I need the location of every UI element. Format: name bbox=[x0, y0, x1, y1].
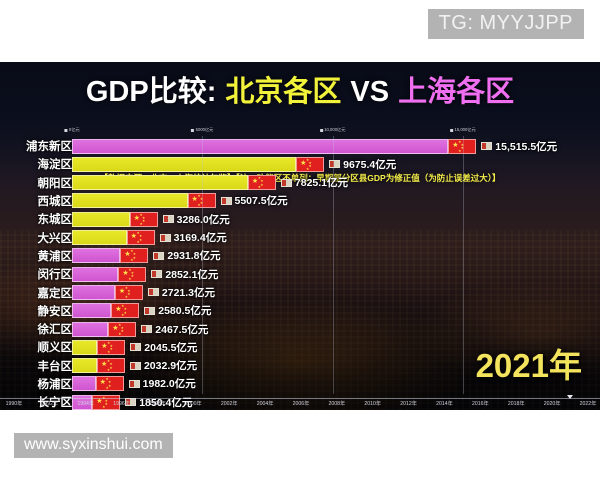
tick-marker-icon bbox=[450, 129, 453, 132]
bar-category-label: 丰台区 bbox=[0, 357, 72, 375]
bar-track: ★★★★★2032.9亿元 bbox=[72, 358, 528, 373]
title-part-shanghai: 上海各区 bbox=[398, 76, 514, 108]
flag-star-icon: ★ bbox=[130, 259, 133, 262]
timeline-year-tick[interactable]: 2002年 bbox=[221, 400, 238, 407]
bar-track: ★★★★★7825.1亿元 bbox=[72, 175, 528, 190]
china-flag-icon: ★★★★★ bbox=[96, 376, 124, 391]
china-flag-icon: ★★★★★ bbox=[127, 230, 155, 245]
chart-gridline bbox=[202, 136, 203, 394]
bar-track: ★★★★★3286.0亿元 bbox=[72, 212, 528, 227]
value-flag-icon bbox=[130, 343, 141, 351]
chart-bar-row: 朝阳区★★★★★7825.1亿元 bbox=[0, 174, 600, 192]
china-flag-icon: ★★★★★ bbox=[120, 248, 148, 263]
bar-value-text: 1982.0亿元 bbox=[143, 376, 196, 391]
chart-bar-row: 徐汇区★★★★★2467.5亿元 bbox=[0, 320, 600, 338]
chart-bar-row: 西城区★★★★★5507.5亿元 bbox=[0, 192, 600, 210]
bar-value-label: 15,515.5亿元 bbox=[481, 139, 557, 154]
value-flag-icon bbox=[160, 234, 171, 242]
bar-value-label: 2852.1亿元 bbox=[151, 267, 218, 282]
flag-star-icon: ★ bbox=[106, 387, 109, 390]
title-part-vs: VS bbox=[350, 76, 389, 108]
bar-segment[interactable] bbox=[72, 285, 115, 300]
bar-category-label: 浦东新区 bbox=[0, 137, 72, 155]
chart-bar-row: 浦东新区★★★★★15,515.5亿元 bbox=[0, 137, 600, 155]
bar-segment[interactable] bbox=[72, 193, 188, 208]
bar-value-text: 2032.9亿元 bbox=[144, 358, 197, 373]
flag-star-icon: ★ bbox=[118, 333, 121, 336]
bar-segment[interactable] bbox=[72, 248, 120, 263]
bar-segment[interactable] bbox=[72, 376, 96, 391]
flag-star-icon: ★ bbox=[458, 150, 461, 153]
value-flag-icon bbox=[163, 215, 174, 223]
china-flag-icon: ★★★★★ bbox=[118, 267, 146, 282]
china-flag-icon: ★★★★★ bbox=[111, 303, 139, 318]
value-flag-icon bbox=[148, 288, 159, 296]
tick-label-text: 10,000亿元 bbox=[324, 127, 345, 133]
bar-value-label: 7825.1亿元 bbox=[281, 175, 348, 190]
tick-marker-icon bbox=[191, 129, 194, 132]
timeline-year-tick[interactable]: 2006年 bbox=[293, 400, 310, 407]
china-flag-icon: ★★★★★ bbox=[130, 212, 158, 227]
bar-value-label: 2045.5亿元 bbox=[130, 340, 197, 355]
bar-value-label: 2467.5亿元 bbox=[141, 322, 208, 337]
value-flag-icon bbox=[130, 362, 141, 370]
current-year-display: 2021年 bbox=[476, 349, 582, 382]
flag-star-icon: ★ bbox=[125, 296, 128, 299]
chart-bar-row: 大兴区★★★★★3169.4亿元 bbox=[0, 228, 600, 246]
chart-gridline bbox=[463, 136, 464, 394]
bar-track: ★★★★★2580.5亿元 bbox=[72, 303, 528, 318]
timeline-playhead-marker[interactable] bbox=[567, 395, 573, 399]
title-part-beijing: 北京各区 bbox=[225, 76, 341, 108]
bar-category-label: 西城区 bbox=[0, 192, 72, 210]
bar-value-text: 2467.5亿元 bbox=[155, 322, 208, 337]
bar-segment[interactable] bbox=[72, 212, 130, 227]
bar-track: ★★★★★15,515.5亿元 bbox=[72, 139, 528, 154]
page-title: GDP比较:北京各区VS上海各区 bbox=[0, 78, 600, 107]
timeline-year-tick[interactable]: 2022年 bbox=[580, 400, 597, 407]
timeline-year-tick[interactable]: 1992年 bbox=[42, 400, 59, 407]
bar-value-label: 1982.0亿元 bbox=[129, 376, 196, 391]
bar-track: ★★★★★2045.5亿元 bbox=[72, 340, 528, 355]
bar-value-label: 3286.0亿元 bbox=[163, 212, 230, 227]
bar-value-text: 2045.5亿元 bbox=[144, 340, 197, 355]
value-flag-icon bbox=[329, 160, 340, 168]
timeline-year-tick[interactable]: 1996年 bbox=[113, 400, 130, 407]
x-axis-tick-label: 0亿元 bbox=[64, 127, 79, 133]
bar-category-label: 东城区 bbox=[0, 210, 72, 228]
x-axis-tick-label: 5000亿元 bbox=[191, 127, 213, 133]
bar-category-label: 徐汇区 bbox=[0, 320, 72, 338]
bar-value-label: 2931.8亿元 bbox=[153, 248, 220, 263]
timeline-year-tick[interactable]: 2014年 bbox=[436, 400, 453, 407]
bar-value-text: 15,515.5亿元 bbox=[495, 139, 557, 154]
value-flag-icon bbox=[221, 197, 232, 205]
telegram-watermark: TG: MYYJJPP bbox=[428, 9, 584, 39]
flag-star-icon: ★ bbox=[306, 168, 309, 171]
china-flag-icon: ★★★★★ bbox=[97, 340, 125, 355]
bar-segment[interactable] bbox=[72, 267, 118, 282]
bar-category-label: 杨浦区 bbox=[0, 375, 72, 393]
value-flag-icon bbox=[481, 142, 492, 150]
bar-value-text: 2721.3亿元 bbox=[162, 285, 215, 300]
bar-segment[interactable] bbox=[72, 230, 127, 245]
china-flag-icon: ★★★★★ bbox=[296, 157, 324, 172]
bar-value-text: 9675.4亿元 bbox=[343, 157, 396, 172]
bar-value-text: 5507.5亿元 bbox=[235, 193, 288, 208]
bar-category-label: 朝阳区 bbox=[0, 174, 72, 192]
chart-bar-row: 海淀区★★★★★9675.4亿元 bbox=[0, 155, 600, 173]
bar-value-label: 2721.3亿元 bbox=[148, 285, 215, 300]
tick-marker-icon bbox=[320, 129, 323, 132]
timeline-year-tick[interactable]: 2010年 bbox=[364, 400, 381, 407]
chart-bar-row: 黄浦区★★★★★2931.8亿元 bbox=[0, 247, 600, 265]
x-axis-tick-label: 15,000亿元 bbox=[450, 127, 476, 133]
tick-label-text: 5000亿元 bbox=[196, 127, 214, 133]
timeline-year-tick[interactable]: 2012年 bbox=[400, 400, 417, 407]
timeline-year-tick[interactable]: 2008年 bbox=[329, 400, 346, 407]
china-flag-icon: ★★★★★ bbox=[115, 285, 143, 300]
flag-star-icon: ★ bbox=[107, 369, 110, 372]
timeline-year-tick[interactable]: 2004年 bbox=[257, 400, 274, 407]
chart-gridline bbox=[333, 136, 334, 394]
timeline-year-tick[interactable]: 2000年 bbox=[185, 400, 202, 407]
flag-star-icon: ★ bbox=[121, 314, 124, 317]
bar-segment[interactable] bbox=[72, 175, 248, 190]
bar-category-label: 顺义区 bbox=[0, 338, 72, 356]
value-flag-icon bbox=[281, 179, 292, 187]
bar-value-text: 2580.5亿元 bbox=[158, 303, 211, 318]
bar-track: ★★★★★2467.5亿元 bbox=[72, 322, 528, 337]
bar-value-text: 3169.4亿元 bbox=[174, 230, 227, 245]
bar-value-label: 2580.5亿元 bbox=[144, 303, 211, 318]
bar-segment[interactable] bbox=[72, 340, 97, 355]
bar-track: ★★★★★5507.5亿元 bbox=[72, 193, 528, 208]
chart-bar-row: 东城区★★★★★3286.0亿元 bbox=[0, 210, 600, 228]
flag-star-icon: ★ bbox=[107, 351, 110, 354]
bar-value-text: 2852.1亿元 bbox=[165, 267, 218, 282]
bar-segment[interactable] bbox=[72, 157, 296, 172]
bar-value-label: 5507.5亿元 bbox=[221, 193, 288, 208]
bar-track: ★★★★★1982.0亿元 bbox=[72, 376, 528, 391]
timeline-year-tick[interactable]: 1994年 bbox=[77, 400, 94, 407]
timeline-year-tick[interactable]: 2020年 bbox=[544, 400, 561, 407]
flag-star-icon: ★ bbox=[198, 204, 201, 207]
timeline-year-tick[interactable]: 2018年 bbox=[508, 400, 525, 407]
bar-segment[interactable] bbox=[72, 358, 97, 373]
flag-star-icon: ★ bbox=[137, 241, 140, 244]
bar-track: ★★★★★2931.8亿元 bbox=[72, 248, 528, 263]
title-part-gdp: GDP比较: bbox=[86, 76, 217, 108]
china-flag-icon: ★★★★★ bbox=[108, 322, 136, 337]
chart-bar-row: 静安区★★★★★2580.5亿元 bbox=[0, 302, 600, 320]
site-watermark: www.syxinshui.com bbox=[14, 433, 173, 458]
flag-star-icon: ★ bbox=[140, 223, 143, 226]
chart-bar-row: 嘉定区★★★★★2721.3亿元 bbox=[0, 283, 600, 301]
bar-category-label: 闵行区 bbox=[0, 265, 72, 283]
bar-category-label: 黄浦区 bbox=[0, 247, 72, 265]
tick-marker-icon bbox=[64, 129, 67, 132]
chart-timeline-axis[interactable]: 1990年1992年1994年1996年1998年2000年2002年2004年… bbox=[0, 398, 600, 410]
bar-value-label: 3169.4亿元 bbox=[160, 230, 227, 245]
timeline-year-tick[interactable]: 2016年 bbox=[472, 400, 489, 407]
bar-value-label: 9675.4亿元 bbox=[329, 157, 396, 172]
video-frame: GDP比较:北京各区VS上海各区 【数据来源：北京、上海统计年鉴】【注：功能区不… bbox=[0, 62, 600, 410]
timeline-year-tick[interactable]: 1998年 bbox=[149, 400, 166, 407]
bar-value-text: 7825.1亿元 bbox=[295, 175, 348, 190]
tick-label-text: 0亿元 bbox=[69, 127, 80, 133]
tick-label-text: 15,000亿元 bbox=[455, 127, 476, 133]
flag-star-icon: ★ bbox=[258, 186, 261, 189]
value-flag-icon bbox=[151, 270, 162, 278]
bar-segment[interactable] bbox=[72, 322, 108, 337]
bar-segment[interactable] bbox=[72, 139, 448, 154]
bar-category-label: 静安区 bbox=[0, 302, 72, 320]
x-axis-tick-label: 10,000亿元 bbox=[320, 127, 346, 133]
bar-track: ★★★★★3169.4亿元 bbox=[72, 230, 528, 245]
bar-segment[interactable] bbox=[72, 303, 111, 318]
china-flag-icon: ★★★★★ bbox=[97, 358, 125, 373]
bar-track: ★★★★★2852.1亿元 bbox=[72, 267, 528, 282]
bar-value-label: 2032.9亿元 bbox=[130, 358, 197, 373]
value-flag-icon bbox=[144, 307, 155, 315]
chart-top-axis: 0亿元5000亿元10,000亿元15,000亿元 bbox=[0, 126, 600, 137]
timeline-year-tick[interactable]: 1990年 bbox=[6, 400, 23, 407]
bar-track: ★★★★★9675.4亿元 bbox=[72, 157, 528, 172]
bar-category-label: 大兴区 bbox=[0, 228, 72, 246]
bar-track: ★★★★★2721.3亿元 bbox=[72, 285, 528, 300]
flag-star-icon: ★ bbox=[128, 278, 131, 281]
china-flag-icon: ★★★★★ bbox=[248, 175, 276, 190]
value-flag-icon bbox=[129, 380, 140, 388]
bar-category-label: 海淀区 bbox=[0, 155, 72, 173]
value-flag-icon bbox=[141, 325, 152, 333]
chart-bar-row: 闵行区★★★★★2852.1亿元 bbox=[0, 265, 600, 283]
value-flag-icon bbox=[153, 252, 164, 260]
bar-value-text: 2931.8亿元 bbox=[167, 248, 220, 263]
bar-category-label: 嘉定区 bbox=[0, 283, 72, 301]
